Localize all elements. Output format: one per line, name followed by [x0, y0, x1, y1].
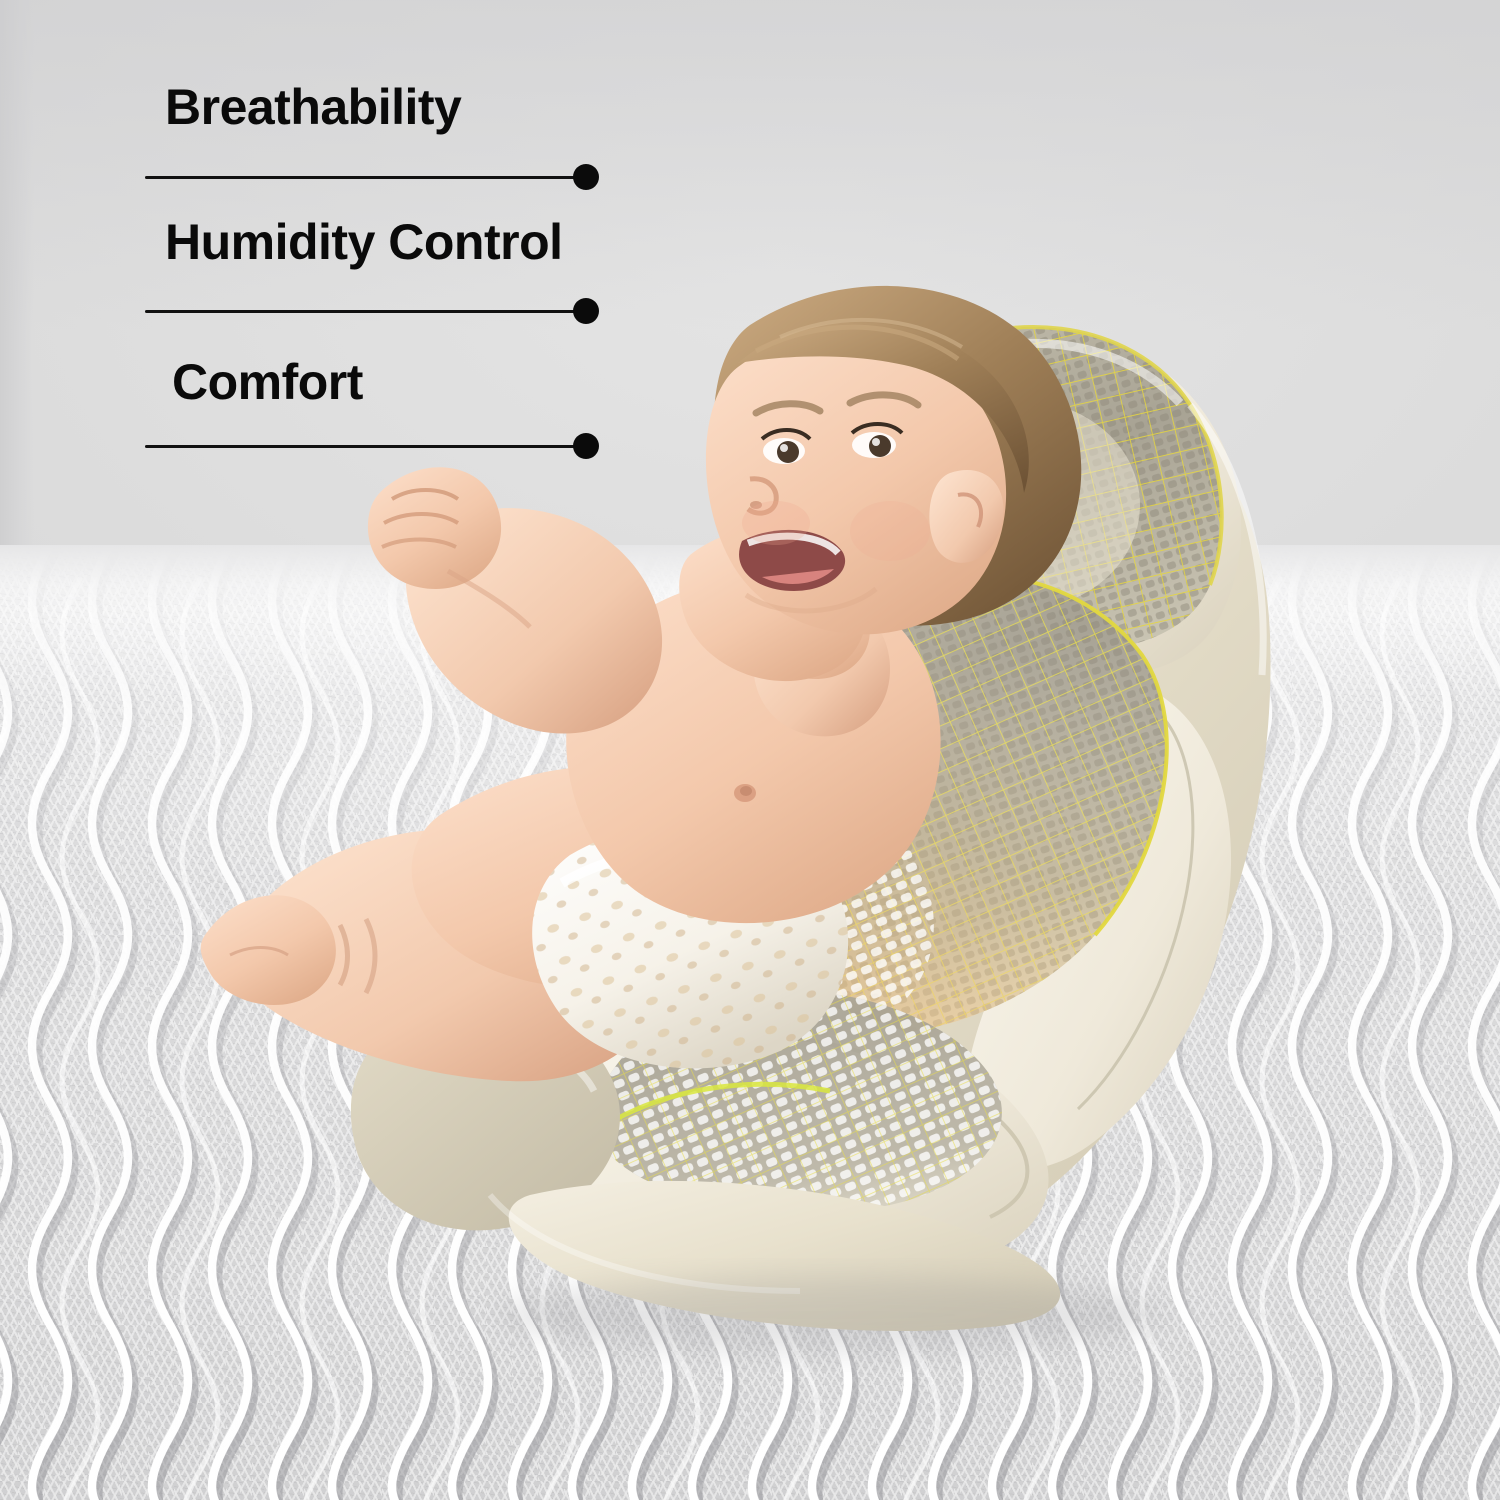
product-marketing-image: Breathability Humidity Control Comfort — [0, 0, 1500, 1500]
callout-leader-line-breathability — [145, 176, 585, 179]
baby-head — [706, 286, 1081, 634]
callout-dot-breathability — [573, 164, 599, 190]
infant-seat-insert-with-baby — [190, 255, 1330, 1335]
callout-label-breathability: Breathability — [165, 82, 461, 132]
